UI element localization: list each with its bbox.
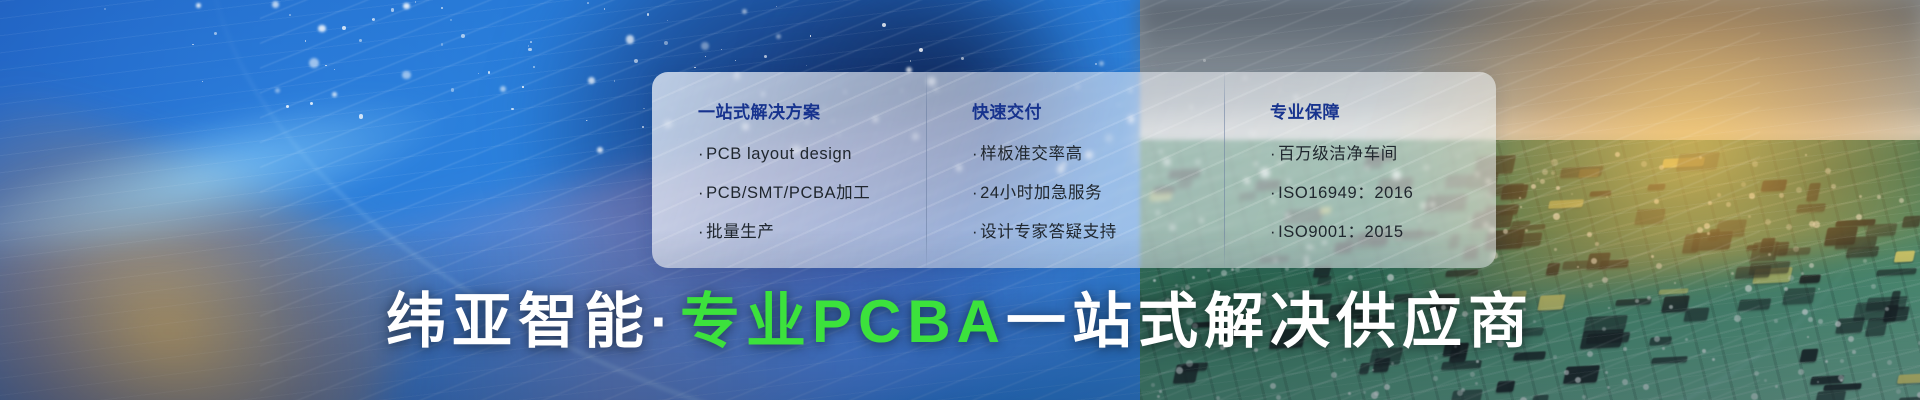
feature-text: 设计专家答疑支持 — [980, 223, 1117, 241]
bullet-icon: · — [698, 223, 704, 241]
feature-text: ISO9001：2015 — [1278, 223, 1404, 241]
column-title: 专业保障 — [1270, 98, 1496, 123]
feature-text: 百万级洁净车间 — [1278, 145, 1398, 163]
bullet-icon: · — [1270, 223, 1276, 241]
feature-list-item: ·ISO16949：2016 — [1270, 184, 1496, 202]
headline-tail: 一站式解决供应商 — [1006, 288, 1534, 355]
feature-text: 样板准交率高 — [980, 145, 1083, 163]
column-title: 一站式解决方案 — [698, 98, 926, 123]
feature-column-quality-assurance: 专业保障 ·百万级洁净车间 ·ISO16949：2016 ·ISO9001：20… — [1224, 72, 1496, 268]
feature-list-item: ·ISO9001：2015 — [1270, 223, 1496, 241]
bullet-icon: · — [1270, 145, 1276, 163]
bullet-icon: · — [972, 223, 978, 241]
feature-list-item: ·样板准交率高 — [972, 145, 1224, 163]
feature-text: 24小时加急服务 — [980, 184, 1102, 202]
bullet-icon: · — [972, 145, 978, 163]
column-title: 快速交付 — [972, 98, 1224, 123]
feature-text: PCB/SMT/PCBA加工 — [706, 184, 870, 202]
bullet-icon: · — [698, 145, 704, 163]
column-divider — [926, 72, 927, 268]
headline-separator: · — [650, 288, 680, 355]
feature-text: PCB layout design — [706, 145, 852, 163]
feature-column-one-stop: 一站式解决方案 ·PCB layout design ·PCB/SMT/PCBA… — [652, 72, 926, 268]
feature-column-fast-delivery: 快速交付 ·样板准交率高 ·24小时加急服务 ·设计专家答疑支持 — [926, 72, 1224, 268]
column-divider — [1224, 72, 1225, 268]
promo-banner: 一站式解决方案 ·PCB layout design ·PCB/SMT/PCBA… — [0, 0, 1920, 400]
feature-text: 批量生产 — [706, 223, 774, 241]
feature-list-item: ·PCB/SMT/PCBA加工 — [698, 184, 926, 202]
bullet-icon: · — [1270, 184, 1276, 202]
features-panel: 一站式解决方案 ·PCB layout design ·PCB/SMT/PCBA… — [652, 72, 1496, 268]
feature-list-item: ·PCB layout design — [698, 145, 926, 163]
feature-list-item: ·批量生产 — [698, 223, 926, 241]
bullet-icon: · — [972, 184, 978, 202]
headline-brand: 纬亚智能 — [386, 288, 650, 355]
bullet-icon: · — [698, 184, 704, 202]
headline-accent: 专业PCBA — [680, 288, 1006, 355]
feature-list-item: ·百万级洁净车间 — [1270, 145, 1496, 163]
feature-list-item: ·设计专家答疑支持 — [972, 223, 1224, 241]
feature-text: ISO16949：2016 — [1278, 184, 1413, 202]
feature-list-item: ·24小时加急服务 — [972, 184, 1224, 202]
banner-headline: 纬亚智能·专业PCBA一站式解决供应商 — [0, 292, 1920, 352]
